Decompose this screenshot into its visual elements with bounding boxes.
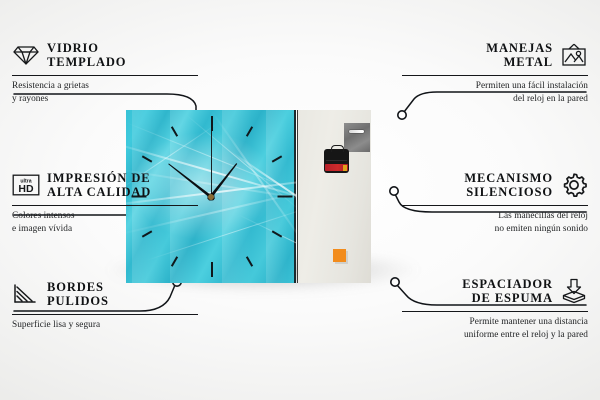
clock-tick xyxy=(211,116,213,131)
ultra-hd-icon: ultra HD xyxy=(12,171,40,199)
feature-description: Resistencia a grietas y rayones xyxy=(12,80,198,105)
feature-desc-line2: del reloj en la pared xyxy=(402,93,588,106)
feature-title-line1: BORDES xyxy=(47,280,109,294)
feature-desc-line1: Permiten una fácil instalación xyxy=(402,80,588,93)
feature-description: Superficie lisa y segura xyxy=(12,319,198,332)
clock-pivot xyxy=(208,194,214,200)
metal-hanger-plate xyxy=(344,123,370,152)
feature-title: ESPACIADOR DE ESPUMA xyxy=(462,277,553,305)
feature-print: ultra HD IMPRESIÓN DE ALTA CALIDAD Color… xyxy=(12,168,198,236)
clock-tick xyxy=(211,262,213,277)
feature-title: MANEJAS METAL xyxy=(486,41,553,69)
clock-second-hand xyxy=(211,131,212,197)
feature-title: BORDES PULIDOS xyxy=(47,280,109,308)
feature-title: IMPRESIÓN DE ALTA CALIDAD xyxy=(47,171,151,199)
feature-edges: BORDES PULIDOS Superficie lisa y segura xyxy=(12,277,198,332)
feature-divider xyxy=(12,75,198,76)
feature-divider xyxy=(402,311,588,312)
feature-title-line1: ESPACIADOR xyxy=(462,277,553,291)
feature-title-line2: DE ESPUMA xyxy=(462,291,553,305)
feature-desc-line2: no emiten ningún sonido xyxy=(402,223,588,236)
hanger-slot xyxy=(349,130,364,133)
feature-description: Colores intensos e imagen vívida xyxy=(12,210,198,235)
feature-desc-line2: uniforme entre el reloj y la pared xyxy=(402,329,588,342)
feature-desc-line1: Permite mantener una distancia xyxy=(402,316,588,329)
feature-mechanism: MECANISMO SILENCIOSO Las manecillas del … xyxy=(402,168,588,236)
feature-title-line2: METAL xyxy=(486,55,553,69)
feature-desc-line2: e imagen vívida xyxy=(12,223,198,236)
connector-node-mechanism xyxy=(390,187,398,195)
foam-spacer xyxy=(333,249,346,262)
feature-desc-line2: y rayones xyxy=(12,93,198,106)
gear-icon xyxy=(560,171,588,199)
feature-spacer: ESPACIADOR DE ESPUMA Permite mantener un… xyxy=(402,274,588,342)
ultra-hd-icon-main: HD xyxy=(18,183,34,195)
feature-title-line1: VIDRIO xyxy=(47,41,126,55)
feature-title-line2: ALTA CALIDAD xyxy=(47,185,151,199)
feature-description: Permiten una fácil instalación del reloj… xyxy=(402,80,588,105)
clock-movement xyxy=(324,149,349,173)
battery-tip xyxy=(343,165,347,171)
clock-back-panel xyxy=(297,110,371,283)
diamond-icon xyxy=(12,41,40,69)
feature-title-line1: MECANISMO xyxy=(464,171,553,185)
feature-title-line2: SILENCIOSO xyxy=(464,185,553,199)
feature-desc-line1: Resistencia a grietas xyxy=(12,80,198,93)
feature-title-line1: IMPRESIÓN DE xyxy=(47,171,151,185)
feature-divider xyxy=(12,205,198,206)
feature-title: MECANISMO SILENCIOSO xyxy=(464,171,553,199)
feature-desc-line1: Colores intensos xyxy=(12,210,198,223)
product-infographic: VIDRIO TEMPLADO Resistencia a grietas y … xyxy=(0,0,600,400)
feature-divider xyxy=(402,205,588,206)
feature-description: Las manecillas del reloj no emiten ningú… xyxy=(402,210,588,235)
movement-hook xyxy=(331,145,344,152)
feature-divider xyxy=(12,314,198,315)
connector-node-handles xyxy=(398,111,406,119)
movement-seam xyxy=(326,160,347,161)
feature-handles: MANEJAS METAL Permiten una fácil instala… xyxy=(402,38,588,106)
feature-description: Permite mantener una distancia uniforme … xyxy=(402,316,588,341)
battery-compartment xyxy=(325,164,348,171)
press-down-pad-icon xyxy=(560,277,588,305)
feature-title-line2: TEMPLADO xyxy=(47,55,126,69)
feature-title: VIDRIO TEMPLADO xyxy=(47,41,126,69)
feature-desc-line1: Superficie lisa y segura xyxy=(12,319,198,332)
feature-title-line1: MANEJAS xyxy=(486,41,553,55)
feature-desc-line1: Las manecillas del reloj xyxy=(402,210,588,223)
picture-frame-icon xyxy=(560,41,588,69)
clock-tick xyxy=(278,196,293,198)
feature-divider xyxy=(402,75,588,76)
feature-title-line2: PULIDOS xyxy=(47,294,109,308)
feature-glass: VIDRIO TEMPLADO Resistencia a grietas y … xyxy=(12,38,198,106)
beveled-edge-icon xyxy=(12,280,40,308)
